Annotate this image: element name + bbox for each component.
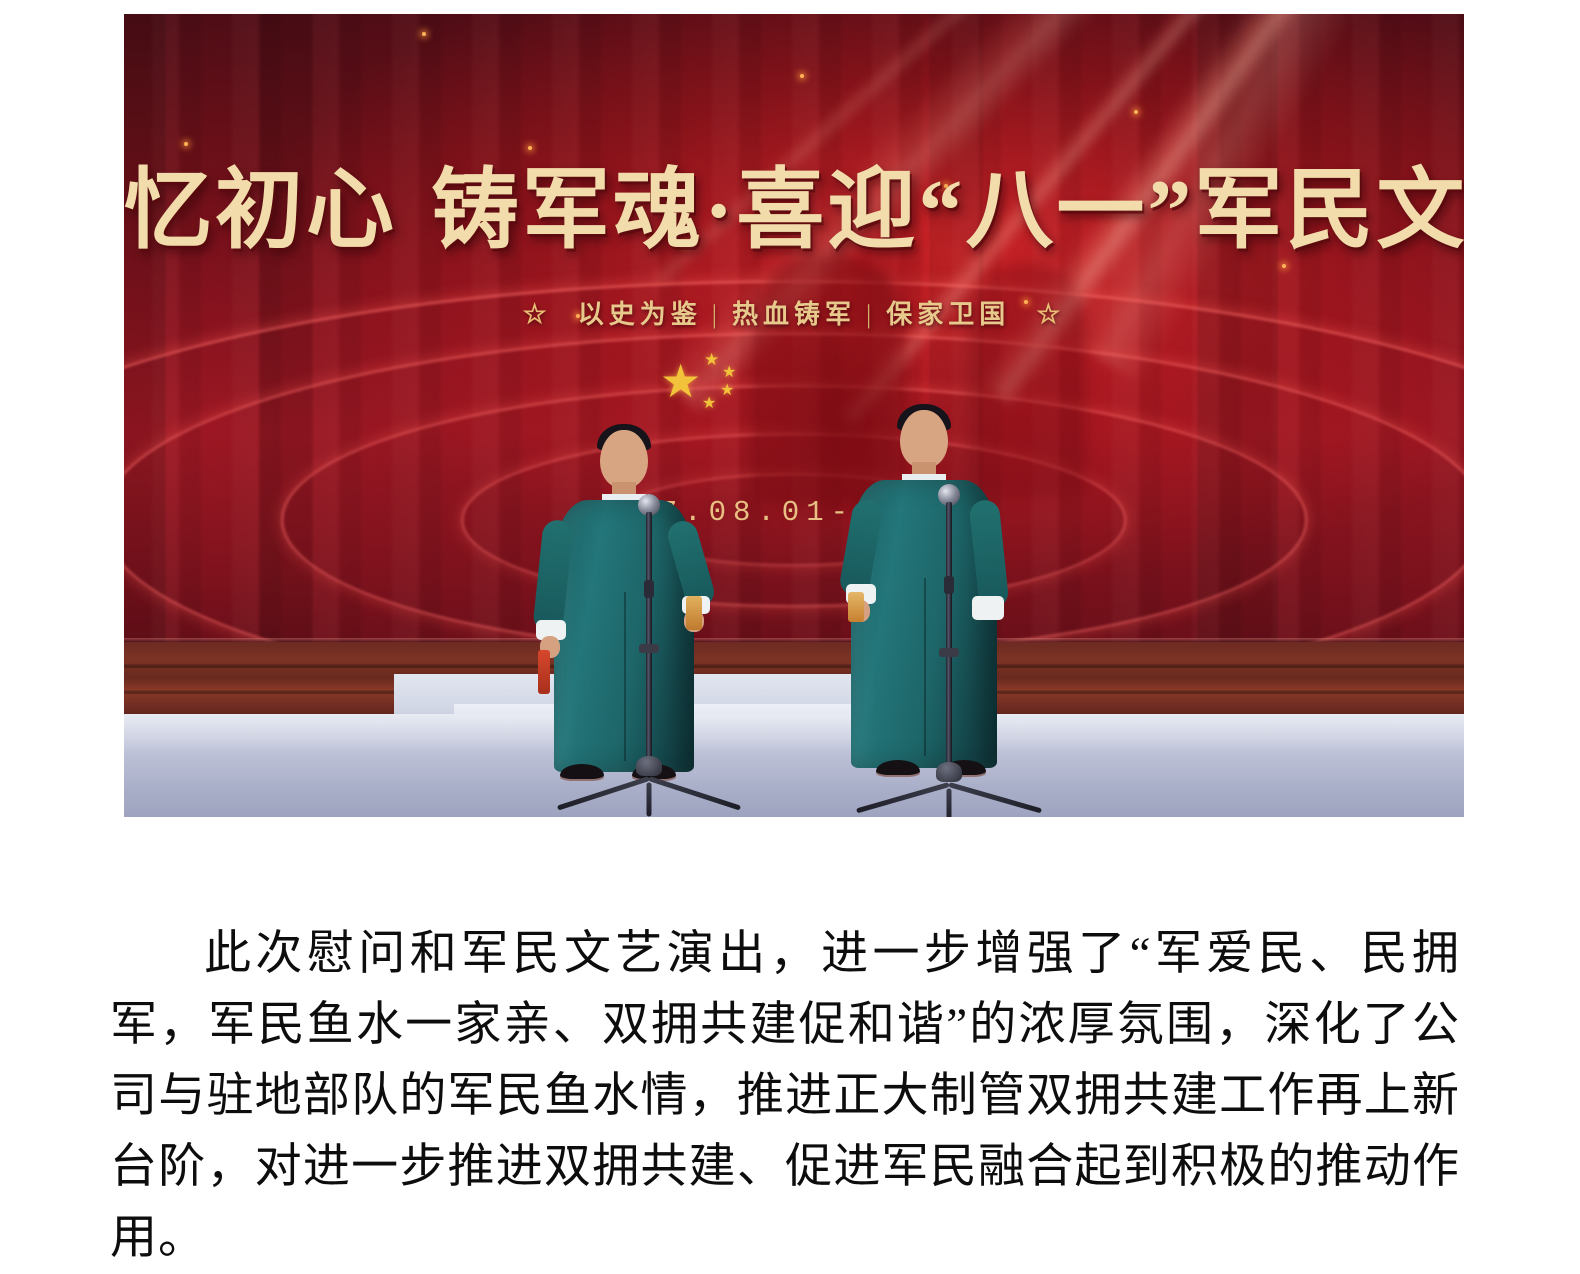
banner-main-title: 忆初心铸军魂·喜迎“八一”军民文艺汇演 — [124, 139, 1464, 266]
microphone-stand-left — [594, 494, 704, 794]
microphone-leg-right — [947, 789, 952, 818]
flag-star-small: ★ — [722, 365, 736, 381]
stage-performance-photo: ★ ★ ★ ★ ★ 忆初心铸军魂·喜迎“八一”军民文艺汇演 ☆以史为鉴|热血铸军… — [124, 14, 1464, 817]
star-icon-right: ☆ — [1036, 299, 1065, 329]
flag-star-small: ★ — [702, 396, 716, 412]
article-paragraph: 此次慰问和军民文艺演出，进一步增强了“军爱民、民拥军，军民鱼水一家亲、双拥共建促… — [110, 919, 1460, 1274]
flag-star-large: ★ — [660, 359, 701, 405]
performer-left-prop-red — [538, 650, 550, 694]
performer-right-prop — [848, 592, 864, 622]
subtitle-item-3: 保家卫国 — [886, 300, 1010, 329]
microphone-base-left — [636, 756, 662, 776]
microphone-clip-right — [944, 576, 954, 594]
subtitle-separator: | — [712, 300, 722, 329]
microphone-clip-left — [644, 580, 654, 598]
sparkle-particle — [422, 32, 426, 36]
banner-title-block: 忆初心铸军魂·喜迎“八一”军民文艺汇演 ☆以史为鉴|热血铸军|保家卫国☆ — [124, 139, 1464, 331]
subtitle-item-2: 热血铸军 — [732, 300, 856, 329]
microphone-pole-left — [646, 512, 652, 764]
banner-title-part2: 铸军魂·喜迎“八一”军民文艺汇演 — [431, 163, 1464, 260]
chinese-flag-stars: ★ ★ ★ ★ ★ — [660, 351, 770, 421]
performer-left-head — [600, 430, 648, 488]
microphone-knob-right — [939, 648, 959, 657]
sparkle-particle — [800, 74, 804, 78]
microphone-knob-left — [639, 644, 659, 653]
microphone-leg-left — [647, 783, 652, 817]
banner-title-part1: 忆初心 — [124, 163, 397, 260]
flag-star-small: ★ — [720, 383, 734, 399]
star-icon-left: ☆ — [523, 299, 552, 329]
flag-star-small: ★ — [704, 351, 719, 368]
banner-date-range: 927.08.01-20 01 — [124, 496, 1464, 529]
microphone-pole-right — [946, 502, 952, 770]
stage-floor-sheen — [124, 714, 1464, 754]
subtitle-item-1: 以史为鉴 — [578, 300, 702, 329]
microphone-base-right — [936, 762, 962, 782]
subtitle-separator: | — [866, 300, 876, 329]
sparkle-particle — [1134, 110, 1138, 114]
banner-subtitle: ☆以史为鉴|热血铸军|保家卫国☆ — [124, 294, 1464, 331]
performer-right-head — [900, 410, 948, 468]
microphone-stand-right — [894, 484, 1004, 794]
